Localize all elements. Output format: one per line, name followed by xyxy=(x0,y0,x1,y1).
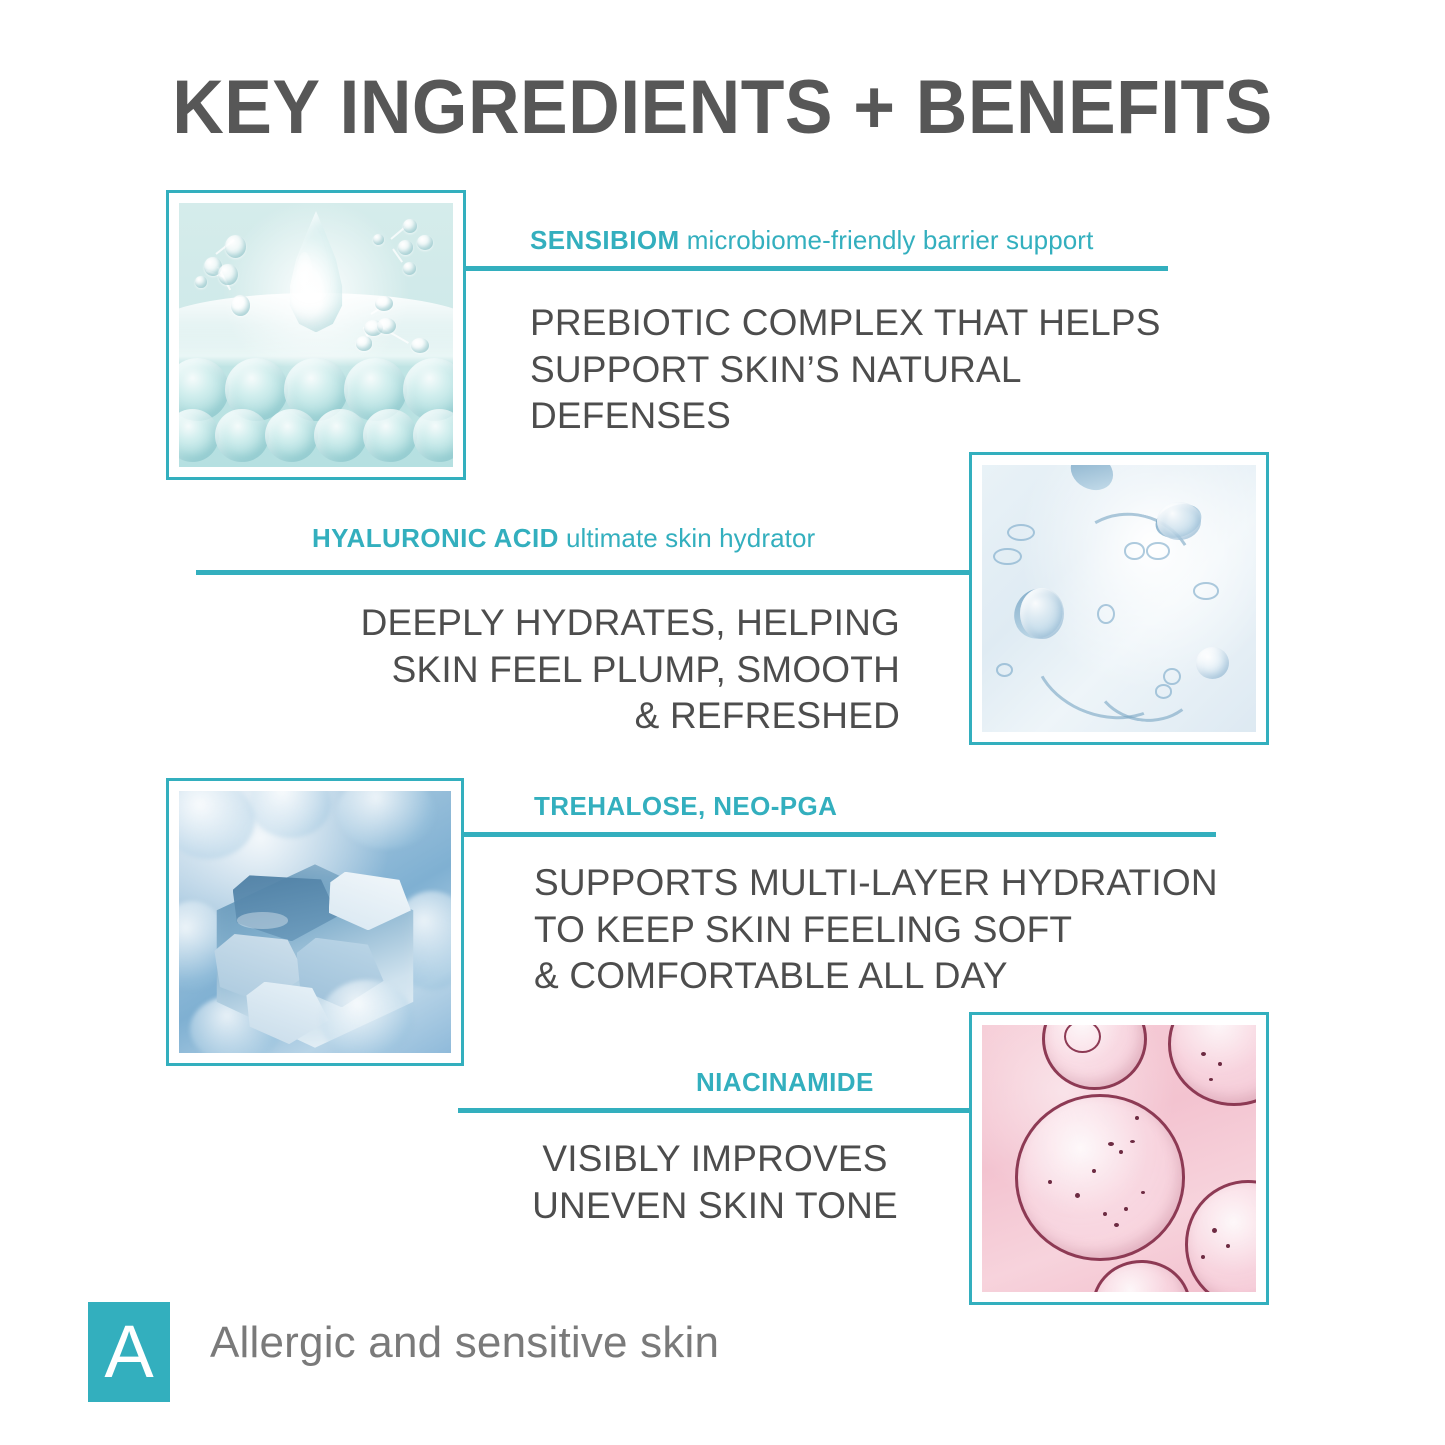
footer-tagline: Allergic and sensitive skin xyxy=(210,1318,719,1368)
allergic-badge-icon: A xyxy=(88,1302,170,1402)
divider-rule-niacinamide xyxy=(458,1108,971,1113)
ingredient-benefit-trehalose: SUPPORTS MULTI-LAYER HYDRATION TO KEEP S… xyxy=(534,860,1234,1000)
ingredient-name: TREHALOSE, NEO-PGA xyxy=(534,791,837,821)
image-frame-hyaluronic-acid xyxy=(969,452,1269,745)
ingredient-benefit-hyaluronic-acid: DEEPLY HYDRATES, HELPING SKIN FEEL PLUMP… xyxy=(200,600,900,740)
page-title: KEY INGREDIENTS + BENEFITS xyxy=(43,64,1401,151)
pink-bubbles-image xyxy=(982,1025,1256,1292)
ingredient-name: NIACINAMIDE xyxy=(696,1067,874,1097)
image-frame-niacinamide xyxy=(969,1012,1269,1305)
ingredient-heading-trehalose: TREHALOSE, NEO-PGA xyxy=(534,792,837,821)
divider-rule-trehalose xyxy=(462,832,1216,837)
ingredients-benefits-poster: KEY INGREDIENTS + BENEFITS xyxy=(0,0,1445,1445)
water-droplet-molecules-cells-image xyxy=(179,203,453,467)
ingredient-heading-niacinamide: NIACINAMIDE xyxy=(696,1068,874,1097)
faceted-blue-sphere-image xyxy=(179,791,451,1053)
clear-gel-texture-image xyxy=(982,465,1256,732)
ingredient-benefit-niacinamide: VISIBLY IMPROVES UNEVEN SKIN TONE xyxy=(460,1136,970,1229)
ingredient-descriptor: microbiome-friendly barrier support xyxy=(687,225,1094,255)
image-frame-sensibiom xyxy=(166,190,466,480)
molecule-cluster xyxy=(360,216,442,295)
image-frame-trehalose xyxy=(166,778,464,1066)
ingredient-name: SENSIBIOM xyxy=(530,225,680,255)
molecule-cluster xyxy=(338,287,437,371)
cell-row xyxy=(179,409,453,462)
ingredient-descriptor: ultimate skin hydrator xyxy=(566,523,815,553)
divider-rule-sensibiom xyxy=(466,266,1168,271)
divider-rule-hyaluronic-acid xyxy=(196,570,971,575)
ingredient-heading-hyaluronic-acid: HYALURONIC ACID ultimate skin hydrator xyxy=(312,524,815,553)
molecule-cluster xyxy=(195,232,283,327)
ingredient-heading-sensibiom: SENSIBIOM microbiome-friendly barrier su… xyxy=(530,226,1093,255)
ingredient-name: HYALURONIC ACID xyxy=(312,523,559,553)
ingredient-benefit-sensibiom: PREBIOTIC COMPLEX THAT HELPS SUPPORT SKI… xyxy=(530,300,1230,440)
